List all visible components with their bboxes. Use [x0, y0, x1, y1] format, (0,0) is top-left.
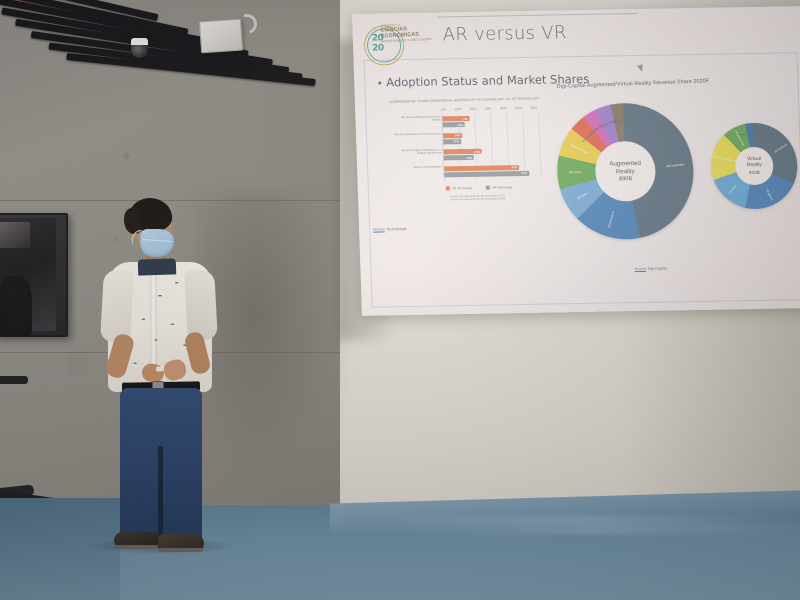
presenter-left-shoe	[114, 532, 158, 549]
tv-screen	[0, 218, 56, 331]
leg-separation	[158, 446, 163, 542]
presenter	[96, 196, 226, 568]
shoe-sole	[114, 545, 158, 549]
floor-sheen	[380, 516, 800, 534]
chair-seat	[0, 376, 28, 384]
presenter-collar	[138, 258, 177, 275]
photo-scene: 2020 JORNADAS DE CIENCIAS ECONÓMICAS INV…	[0, 0, 800, 600]
tv-reflection	[0, 276, 32, 336]
presenter-right-shoe	[158, 534, 204, 552]
wall-mounted-tv	[0, 213, 68, 337]
projection-screen: 2020 JORNADAS DE CIENCIAS ECONÓMICAS INV…	[352, 6, 800, 316]
slide-vignette	[352, 6, 800, 316]
shoe-sole	[158, 548, 204, 552]
tv-glare	[0, 222, 30, 248]
presenter-right-sleeve	[184, 269, 218, 340]
presenter-left-sleeve	[100, 269, 134, 342]
